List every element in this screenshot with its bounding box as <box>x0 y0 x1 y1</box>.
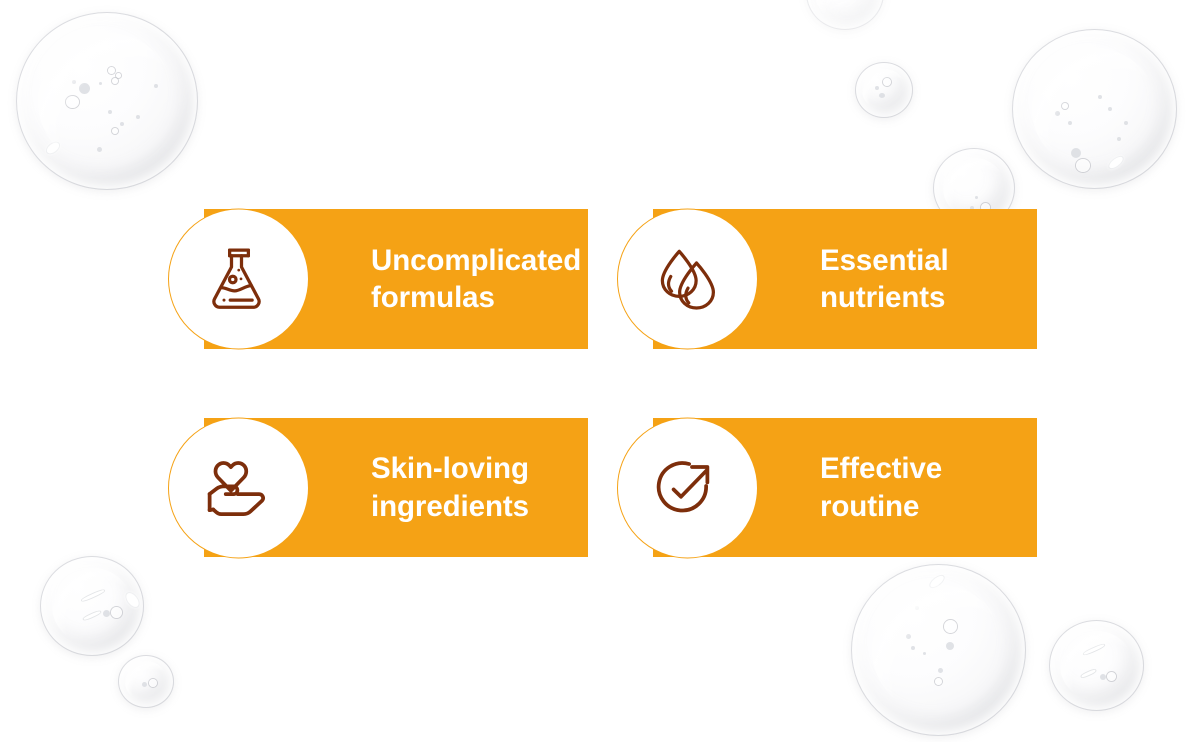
card-icon-medallion <box>168 209 309 350</box>
feature-card-uncomplicated-formulas[interactable]: Uncomplicated formulas <box>204 209 588 349</box>
card-label: Skin-loving ingredients <box>371 450 529 524</box>
feature-card-grid: Uncomplicated formulas Essential nutrien… <box>0 0 1200 742</box>
card-icon-medallion <box>168 417 309 558</box>
flask-icon <box>199 239 279 319</box>
card-icon-medallion <box>617 209 758 350</box>
feature-grid-graphic: Uncomplicated formulas Essential nutrien… <box>0 0 1200 742</box>
feature-card-skin-loving-ingredients[interactable]: Skin-loving ingredients <box>204 418 588 557</box>
heart-in-hand-icon <box>199 448 279 528</box>
feature-card-essential-nutrients[interactable]: Essential nutrients <box>653 209 1037 349</box>
card-label: Effective routine <box>820 450 942 524</box>
card-label: Uncomplicated formulas <box>371 242 581 316</box>
feature-card-effective-routine[interactable]: Effective routine <box>653 418 1037 557</box>
card-icon-medallion <box>617 417 758 558</box>
card-label: Essential nutrients <box>820 242 949 316</box>
water-drops-icon <box>648 239 728 319</box>
arrow-check-circle-icon <box>648 448 728 528</box>
